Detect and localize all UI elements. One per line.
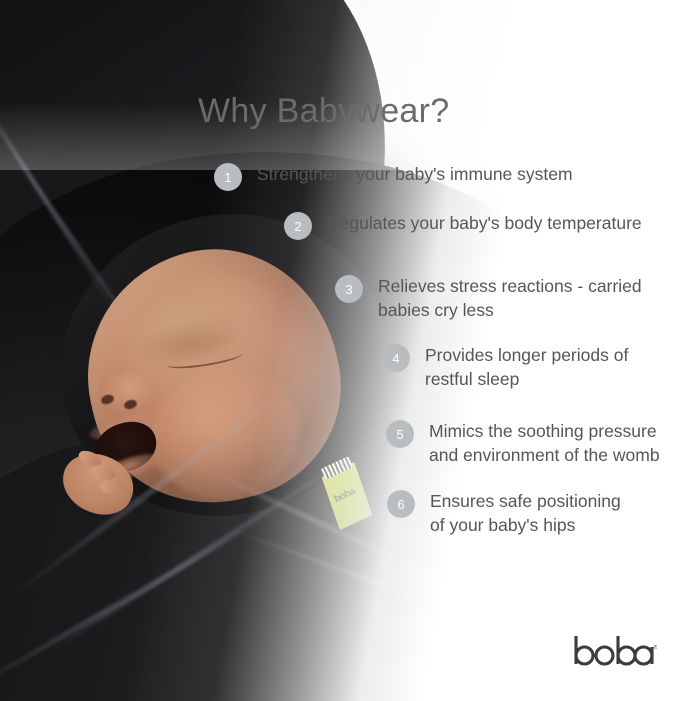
benefit-number-badge: 3 xyxy=(335,275,363,303)
benefit-text: Mimics the soothing pressure and environ… xyxy=(429,419,660,467)
benefit-item-5: 5 Mimics the soothing pressure and envir… xyxy=(386,419,660,467)
benefit-number-badge: 1 xyxy=(214,163,242,191)
benefit-number-badge: 4 xyxy=(382,344,410,372)
benefit-text: Relieves stress reactions - carried babi… xyxy=(378,274,642,322)
benefit-text: Strengthens your baby's immune system xyxy=(257,162,573,186)
benefit-text: Regulates your baby's body temperature xyxy=(327,211,642,235)
benefit-text: Ensures safe positioning of your baby's … xyxy=(430,489,621,537)
poster-content: Why Babywear? 1 Strengthens your baby's … xyxy=(0,0,679,701)
benefit-item-4: 4 Provides longer periods of restful sle… xyxy=(382,343,628,391)
benefit-number-badge: 2 xyxy=(284,212,312,240)
page-title: Why Babywear? xyxy=(198,92,449,131)
boba-logo-icon: ® xyxy=(573,634,657,668)
registered-mark: ® xyxy=(654,644,658,651)
benefit-item-3: 3 Relieves stress reactions - carried ba… xyxy=(335,274,642,322)
benefit-number-badge: 6 xyxy=(387,490,415,518)
benefit-item-1: 1 Strengthens your baby's immune system xyxy=(214,162,573,191)
benefit-item-2: 2 Regulates your baby's body temperature xyxy=(284,211,642,240)
benefit-item-6: 6 Ensures safe positioning of your baby'… xyxy=(387,489,621,537)
benefit-number-badge: 5 xyxy=(386,420,414,448)
benefit-text: Provides longer periods of restful sleep xyxy=(425,343,628,391)
babywear-poster: boba Why Babywear? 1 Strengthens your ba… xyxy=(0,0,679,701)
boba-logo: ® xyxy=(573,634,657,668)
